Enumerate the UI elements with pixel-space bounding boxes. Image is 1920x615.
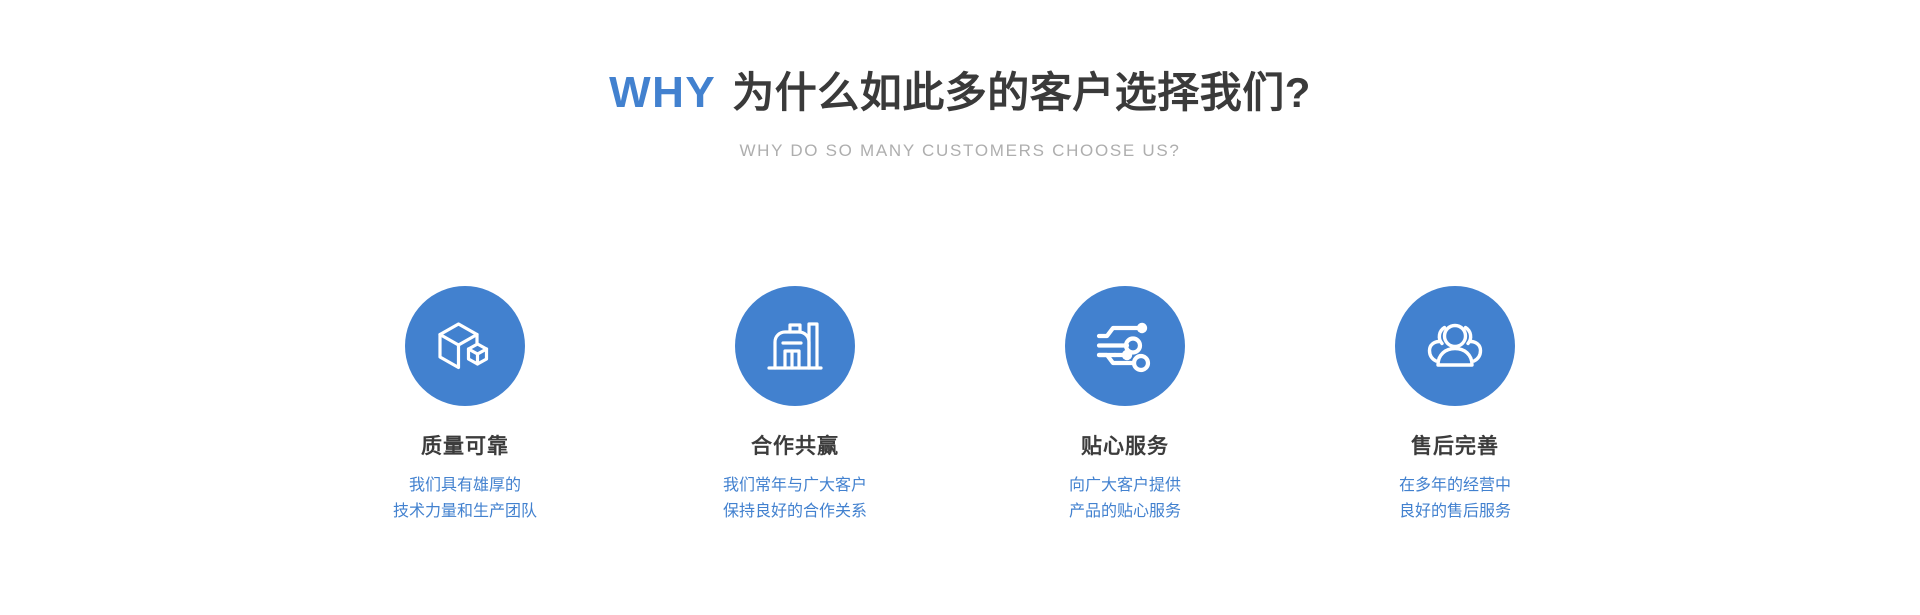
feature-desc-line-2: 技术力量和生产团队 [393,499,537,525]
feature-desc-line-1: 向广大客户提供 [1069,473,1181,499]
section-heading-block: WHY为什么如此多的客户选择我们? WHY DO SO MANY CUSTOME… [0,68,1920,161]
feature-card-description: 向广大客户提供 产品的贴心服务 [1069,473,1181,524]
users-group-icon [1423,314,1487,378]
feature-desc-line-1: 在多年的经营中 [1399,473,1511,499]
feature-card-aftersales[interactable]: 售后完善 在多年的经营中 良好的售后服务 [1395,286,1515,524]
feature-desc-line-1: 我们具有雄厚的 [393,473,537,499]
title-main-text: 为什么如此多的客户选择我们? [732,69,1311,116]
feature-card-title: 贴心服务 [1081,434,1169,459]
icon-circle-cooperation [735,286,855,406]
feature-card-cooperation[interactable]: 合作共赢 我们常年与广大客户 保持良好的合作关系 [735,286,855,524]
icon-circle-service [1065,286,1185,406]
page-subtitle: WHY DO SO MANY CUSTOMERS CHOOSE US? [0,141,1920,161]
feature-card-description: 我们常年与广大客户 保持良好的合作关系 [723,473,867,524]
feature-card-service[interactable]: 贴心服务 向广大客户提供 产品的贴心服务 [1065,286,1185,524]
factory-plant-icon [763,314,827,378]
feature-card-title: 售后完善 [1411,434,1499,459]
feature-card-list: 质量可靠 我们具有雄厚的 技术力量和生产团队 [405,286,1515,524]
feature-card-quality[interactable]: 质量可靠 我们具有雄厚的 技术力量和生产团队 [405,286,525,524]
feature-card-title: 合作共赢 [751,434,839,459]
feature-desc-line-2: 产品的贴心服务 [1069,499,1181,525]
box-package-icon [432,313,498,379]
why-choose-us-section: WHY为什么如此多的客户选择我们? WHY DO SO MANY CUSTOME… [0,0,1920,615]
icon-circle-quality [405,286,525,406]
feature-card-description: 我们具有雄厚的 技术力量和生产团队 [393,473,537,524]
feature-card-description: 在多年的经营中 良好的售后服务 [1399,473,1511,524]
page-title: WHY为什么如此多的客户选择我们? [0,68,1920,119]
feature-desc-line-2: 保持良好的合作关系 [723,499,867,525]
feature-card-title: 质量可靠 [421,434,509,459]
feature-desc-line-1: 我们常年与广大客户 [723,473,867,499]
icon-circle-aftersales [1395,286,1515,406]
circuit-network-icon [1093,314,1157,378]
feature-desc-line-2: 良好的售后服务 [1399,499,1511,525]
title-eyebrow-why: WHY [609,68,716,117]
